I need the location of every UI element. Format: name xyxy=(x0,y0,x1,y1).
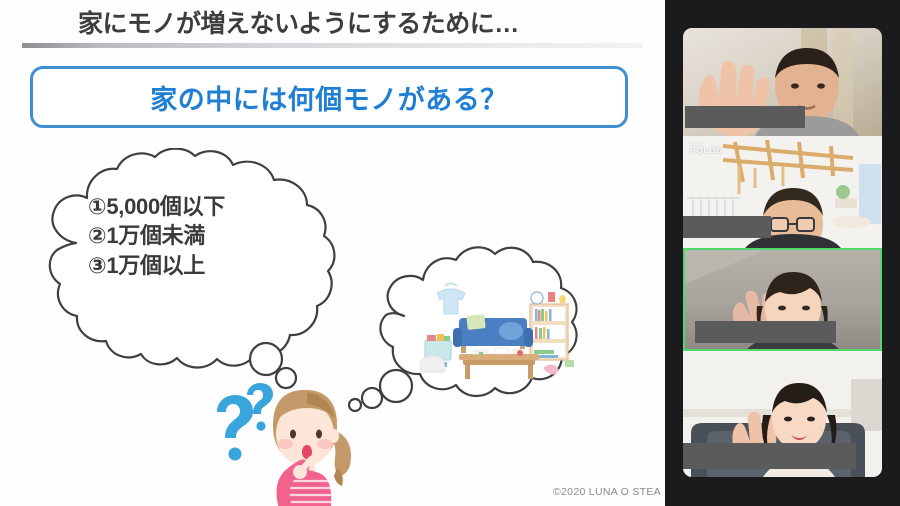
participant-name-redaction-bar xyxy=(695,321,836,343)
question-callout-box: 家の中には何個モノがある？ xyxy=(30,66,628,128)
answer-options-list: ①5,000個以下 ②1万個未満 ③1万個以上 xyxy=(88,192,318,280)
participant-name-redaction-bar xyxy=(685,106,805,128)
video-tile-participant-2[interactable]: HOUSE POLUS xyxy=(683,136,882,248)
bookshelf-icon xyxy=(530,292,568,360)
question-callout-text: 家の中には何個モノがある？ xyxy=(150,78,508,117)
question-mark-icon-large xyxy=(217,395,253,461)
polus-watermark-label: POLUS xyxy=(690,146,723,155)
thinking-woman-illustration xyxy=(255,378,375,506)
cluttered-room-illustration xyxy=(415,280,580,390)
video-tile-participant-1[interactable] xyxy=(683,28,882,136)
presentation-screen-share: 家にモノが増えないようにするために… 家の中には何個モノがある？ ①5,000個… xyxy=(0,0,900,506)
coffee-table-icon xyxy=(459,348,539,379)
answer-option-2: ②1万個未満 xyxy=(88,221,318,250)
copyright-notice: ©2020 LUNA O STEA xyxy=(553,486,661,498)
sofa-icon xyxy=(453,314,533,353)
page-title: 家にモノが増えないようにするために… xyxy=(78,4,519,40)
slide-content-area: 家にモノが増えないようにするために… 家の中には何個モノがある？ ①5,000個… xyxy=(0,0,665,506)
video-tile-participant-4[interactable] xyxy=(683,351,882,477)
polus-watermark: HOUSE POLUS xyxy=(690,142,723,155)
title-divider xyxy=(22,43,642,48)
answer-option-1: ①5,000個以下 xyxy=(88,192,318,221)
participant-name-redaction-bar xyxy=(683,216,771,238)
video-tile-participant-3-active-speaker[interactable] xyxy=(683,248,882,351)
answer-option-3: ③1万個以上 xyxy=(88,251,318,280)
participant-name-redaction-bar xyxy=(683,443,856,469)
shirt-icon xyxy=(437,284,465,315)
video-participants-panel: HOUSE POLUS xyxy=(665,0,900,506)
